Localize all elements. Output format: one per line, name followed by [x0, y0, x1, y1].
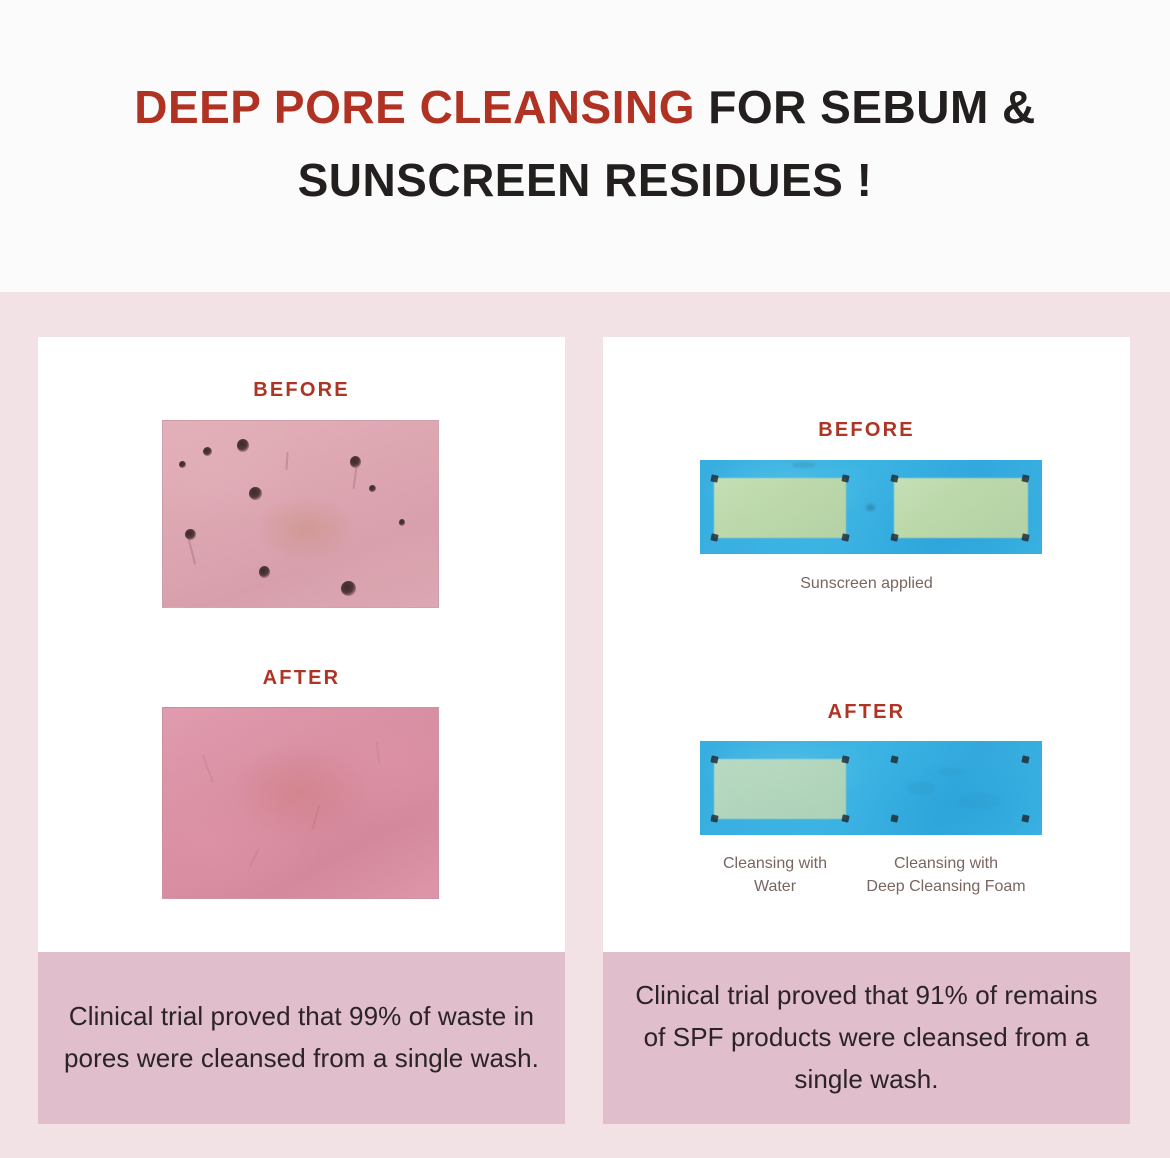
corner-marker-icon [890, 474, 898, 482]
spf-after-note-water-line2: Water [700, 876, 850, 899]
skin-texture-line [188, 539, 196, 565]
panel-pore-cleansing: BEFORE AFTER [38, 337, 565, 1124]
pore-after-image [162, 707, 439, 899]
corner-marker-icon [1021, 533, 1029, 541]
corner-marker-icon [710, 814, 718, 822]
pore-before-label: BEFORE [38, 379, 565, 402]
skin-texture-line [249, 849, 260, 868]
spf-after-notes: Cleansing with Water Cleansing with Deep… [700, 853, 1042, 898]
pore-spot [179, 461, 186, 468]
page-title: DEEP PORE CLEANSING FOR SEBUM & [134, 68, 1036, 147]
spf-after-note-foam: Cleansing with Deep Cleansing Foam [850, 853, 1042, 898]
corner-marker-icon [890, 814, 898, 822]
spf-before-image [700, 460, 1042, 554]
panel-spf-residue-body: BEFORE Sunscreen applied AFTER [603, 337, 1130, 952]
panel-pore-cleansing-body: BEFORE AFTER [38, 337, 565, 952]
spf-after-note-foam-line1: Cleansing with [850, 853, 1042, 876]
pore-spot [249, 487, 262, 500]
skin-texture-line [352, 467, 357, 489]
uv-smudge [906, 781, 936, 795]
corner-marker-icon [890, 533, 898, 541]
spf-caption-text: Clinical trial proved that 91% of remain… [625, 974, 1108, 1100]
skin-texture-line [311, 804, 320, 830]
spf-before-note: Sunscreen applied [603, 573, 1130, 596]
pore-caption-text: Clinical trial proved that 99% of waste … [60, 995, 543, 1079]
pore-spot [341, 581, 356, 596]
spf-before-label: BEFORE [603, 419, 1130, 442]
uv-smudge [792, 462, 816, 468]
corner-marker-icon [841, 814, 849, 822]
uv-residue-patch [714, 759, 846, 819]
pore-after-label: AFTER [38, 667, 565, 690]
corner-marker-icon [1021, 474, 1029, 482]
corner-marker-icon [1021, 755, 1029, 763]
infographic-page: DEEP PORE CLEANSING FOR SEBUM & SUNSCREE… [0, 0, 1170, 1158]
corner-marker-icon [710, 533, 718, 541]
pore-spot [237, 439, 249, 452]
corner-marker-icon [890, 755, 898, 763]
corner-marker-icon [710, 474, 718, 482]
panel-spf-residue: BEFORE Sunscreen applied AFTER [603, 337, 1130, 1124]
skin-texture-line [202, 755, 214, 784]
uv-smudge [938, 767, 964, 777]
corner-marker-icon [1021, 814, 1029, 822]
pore-spot [399, 519, 405, 526]
spf-after-note-water: Cleansing with Water [700, 853, 850, 898]
pore-before-image [162, 420, 439, 608]
uv-residue-patch [714, 478, 846, 538]
spf-after-image [700, 741, 1042, 835]
pore-spot [203, 447, 212, 456]
page-title-rest: FOR SEBUM & [695, 81, 1036, 133]
skin-texture-line [285, 452, 288, 470]
spf-after-note-water-line1: Cleansing with [700, 853, 850, 876]
page-title-accent: DEEP PORE CLEANSING [134, 81, 695, 133]
spf-after-note-foam-line2: Deep Cleansing Foam [850, 876, 1042, 899]
pore-spot [369, 485, 376, 492]
pore-spot [185, 529, 196, 540]
spf-after-label: AFTER [603, 701, 1130, 724]
corner-marker-icon [841, 474, 849, 482]
pore-caption-block: Clinical trial proved that 99% of waste … [38, 952, 565, 1124]
skin-texture-line [375, 742, 380, 764]
uv-smudge [958, 793, 1002, 809]
corner-marker-icon [841, 755, 849, 763]
uv-residue-patch [894, 478, 1028, 538]
corner-marker-icon [841, 533, 849, 541]
spf-caption-block: Clinical trial proved that 91% of remain… [603, 952, 1130, 1124]
page-title-line2: SUNSCREEN RESIDUES ! [298, 141, 873, 220]
uv-smudge [866, 504, 875, 511]
header: DEEP PORE CLEANSING FOR SEBUM & SUNSCREE… [0, 0, 1170, 292]
corner-marker-icon [710, 755, 718, 763]
pore-spot [259, 566, 270, 578]
